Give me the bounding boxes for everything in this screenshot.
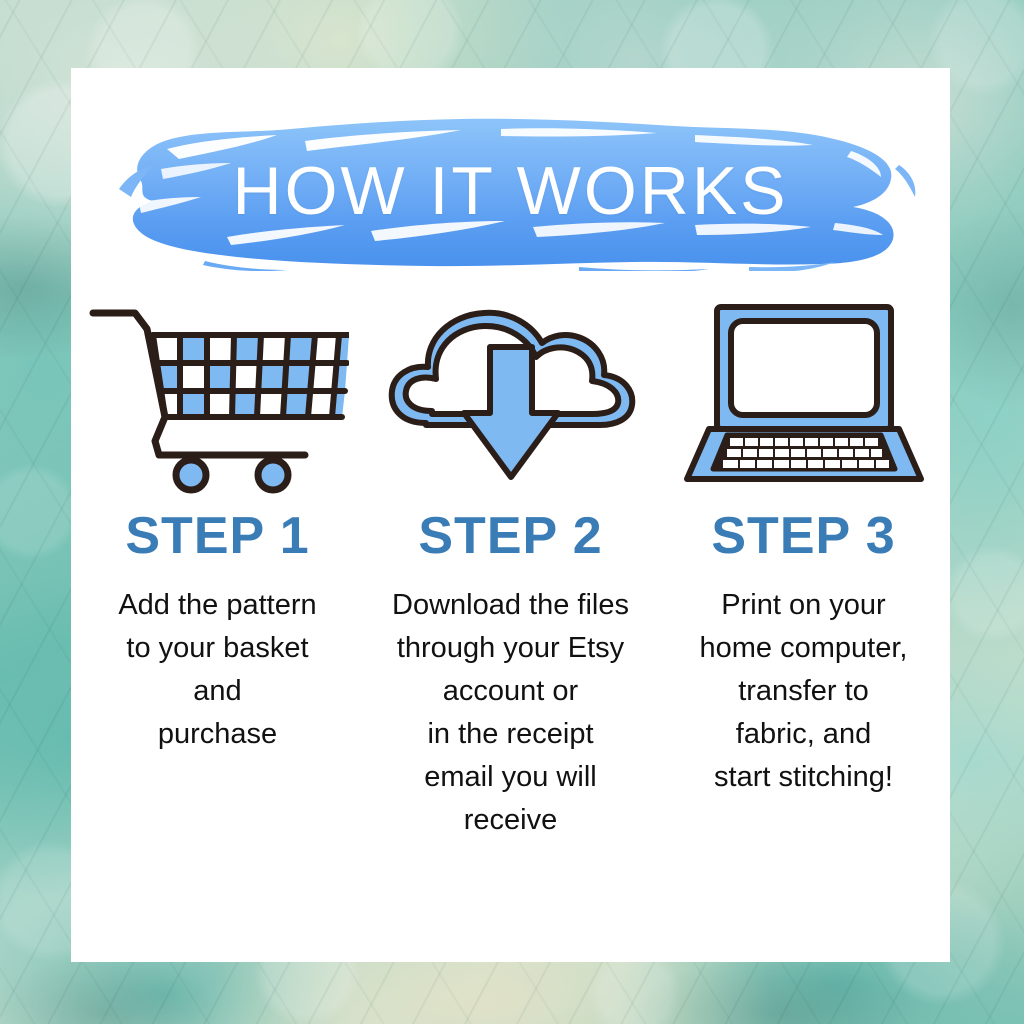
step-2-body: Download the files through your Etsy acc… [371, 584, 651, 841]
title-banner: HOW IT WORKS [71, 111, 950, 271]
poster-canvas: HOW IT WORKS [0, 0, 1024, 1024]
step-column-2: STEP 2 Download the files through your E… [364, 290, 657, 841]
step-3-body: Print on your home computer, transfer to… [664, 584, 944, 799]
cart-wheel-right [258, 460, 288, 490]
step-column-3: STEP 3 Print on your home computer, tran… [657, 290, 950, 841]
step-1-heading: STEP 1 [125, 510, 309, 562]
shopping-cart-icon [87, 295, 349, 495]
step-1-body: Add the pattern to your basket and purch… [78, 584, 358, 756]
laptop-icon [679, 295, 929, 495]
step-3-icon-box [679, 290, 929, 500]
step-column-1: STEP 1 Add the pattern to your basket an… [71, 290, 364, 841]
steps-row: STEP 1 Add the pattern to your basket an… [71, 290, 950, 841]
content-card: HOW IT WORKS [71, 68, 950, 962]
laptop-screen [731, 321, 877, 415]
page-title: HOW IT WORKS [71, 111, 950, 271]
cloud-download-icon [386, 295, 636, 495]
cart-wheel-left [176, 460, 206, 490]
step-3-heading: STEP 3 [711, 510, 895, 562]
step-1-icon-box [87, 290, 349, 500]
step-2-heading: STEP 2 [418, 510, 602, 562]
step-2-icon-box [386, 290, 636, 500]
